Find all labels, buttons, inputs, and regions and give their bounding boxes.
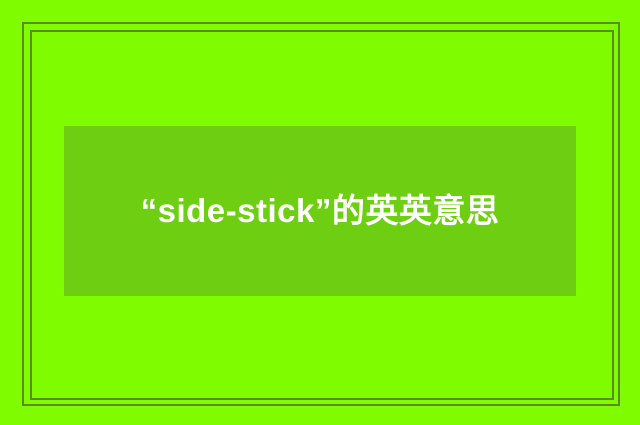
title-banner: “side-stick”的英英意思 [64,126,576,296]
banner-title-text: “side-stick”的英英意思 [141,182,500,240]
poster-canvas: “side-stick”的英英意思 [0,0,640,425]
